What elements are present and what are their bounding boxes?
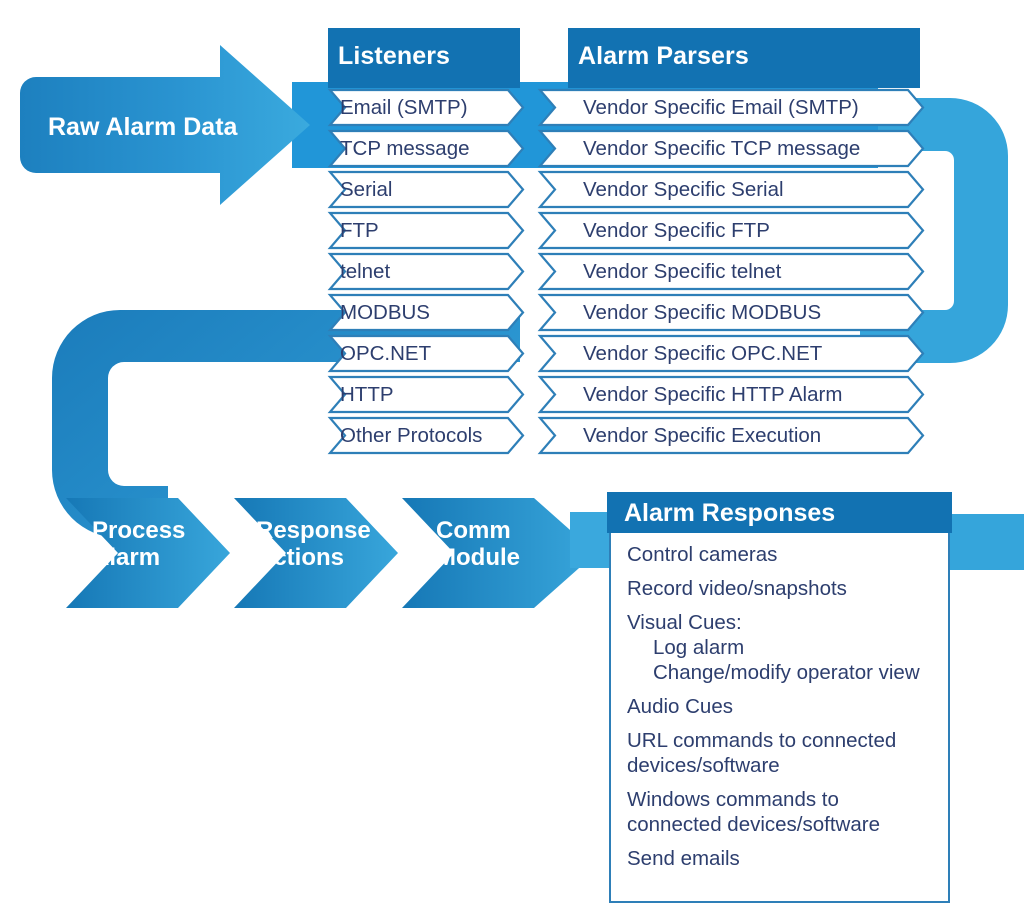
response-item: Log alarm [653, 635, 939, 660]
listener-item-modbus[interactable]: MODBUS [340, 301, 430, 325]
response-item: URL commands to connected devices/softwa… [627, 728, 939, 778]
listener-item-ftp[interactable]: FTP [340, 219, 379, 243]
parser-item-serial[interactable]: Vendor Specific Serial [583, 178, 784, 202]
alarm-responses-list: Control cameras Record video/snapshots V… [627, 542, 939, 880]
response-item: Send emails [627, 846, 939, 871]
response-item: Control cameras [627, 542, 939, 567]
flow-step-process-alarm[interactable]: Process Alarm [92, 518, 185, 572]
parser-item-ftp[interactable]: Vendor Specific FTP [583, 219, 770, 243]
parser-item-modbus[interactable]: Vendor Specific MODBUS [583, 301, 821, 325]
listener-item-telnet[interactable]: telnet [340, 260, 390, 284]
listener-item-http[interactable]: HTTP [340, 383, 394, 407]
listener-item-tcp[interactable]: TCP message [340, 137, 470, 161]
listener-item-email[interactable]: Email (SMTP) [340, 96, 468, 120]
response-item: Audio Cues [627, 694, 939, 719]
response-item: Change/modify operator view [653, 660, 939, 685]
listener-item-other[interactable]: Other Protocols [340, 424, 482, 448]
parser-item-opcnet[interactable]: Vendor Specific OPC.NET [583, 342, 822, 366]
response-item: Windows commands to connected devices/so… [627, 787, 939, 837]
column-header-listeners: Listeners [338, 42, 450, 71]
alarm-responses-title: Alarm Responses [624, 499, 835, 528]
listener-item-opcnet[interactable]: OPC.NET [340, 342, 431, 366]
parser-item-execution[interactable]: Vendor Specific Execution [583, 424, 821, 448]
flow-step-comm-module[interactable]: Comm Module [436, 518, 520, 572]
response-item: Visual Cues: [627, 610, 939, 635]
raw-alarm-data-label: Raw Alarm Data [48, 113, 237, 141]
alarm-responses-panel: Control cameras Record video/snapshots V… [609, 494, 950, 903]
column-header-parsers: Alarm Parsers [578, 42, 749, 71]
parser-item-telnet[interactable]: Vendor Specific telnet [583, 260, 781, 284]
alarm-responses-header: Alarm Responses [607, 492, 952, 533]
parser-item-tcp[interactable]: Vendor Specific TCP message [583, 137, 860, 161]
diagram-canvas: Listeners Alarm Parsers Raw Alarm Data E… [0, 0, 1024, 914]
listener-item-serial[interactable]: Serial [340, 178, 392, 202]
flow-step-response-actions[interactable]: Response Actions [256, 518, 371, 572]
parser-item-http[interactable]: Vendor Specific HTTP Alarm [583, 383, 842, 407]
parser-item-email[interactable]: Vendor Specific Email (SMTP) [583, 96, 859, 120]
response-item: Record video/snapshots [627, 576, 939, 601]
